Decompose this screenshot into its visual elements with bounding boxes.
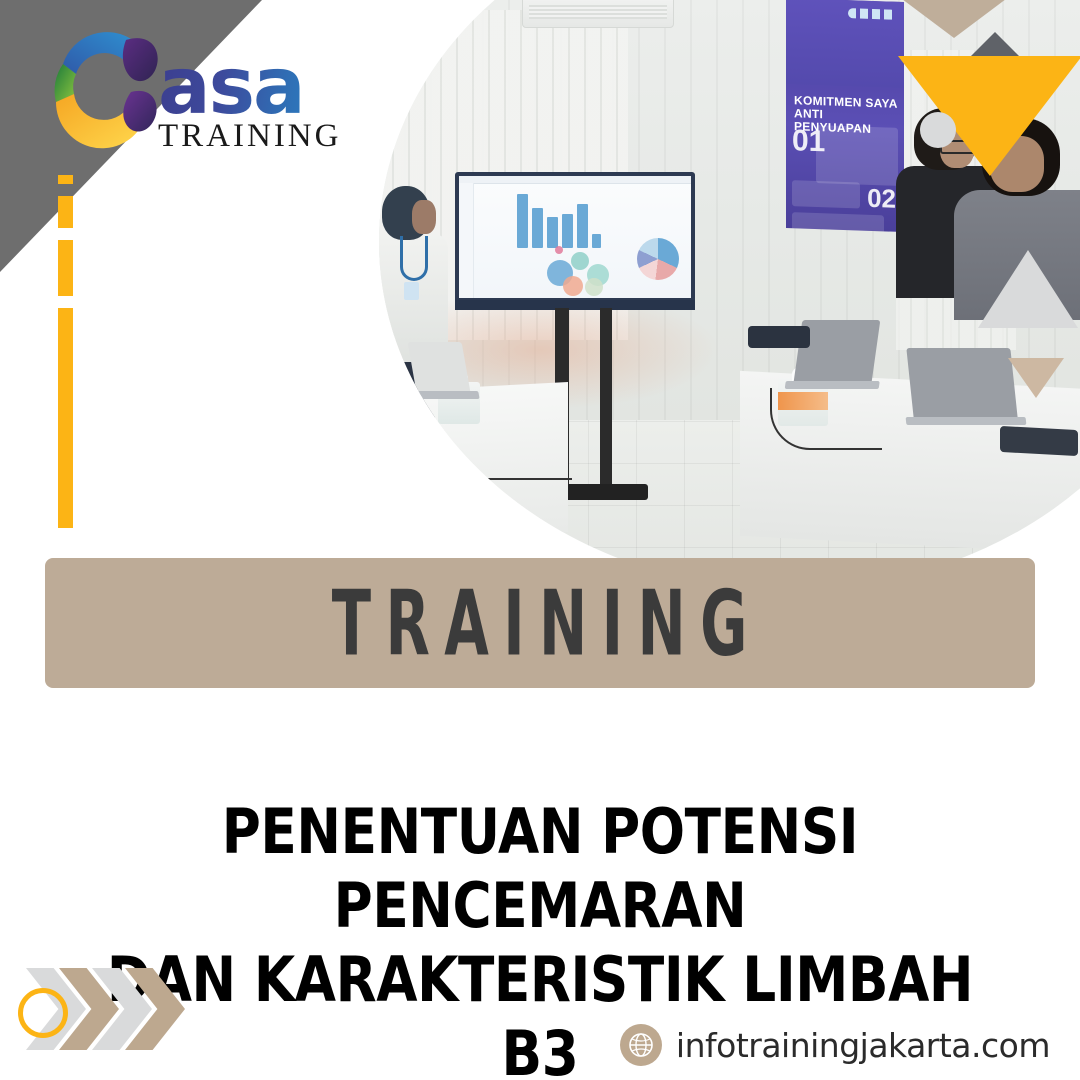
- laptop: [906, 348, 1017, 418]
- logo-subtitle: TRAINING: [158, 118, 341, 155]
- title-line-1: PENENTUAN POTENSI PENCEMARAN: [76, 795, 1005, 943]
- cable: [770, 388, 882, 450]
- yellow-dash-3: [58, 240, 73, 296]
- laptop: [408, 342, 471, 392]
- globe-icon: [620, 1024, 662, 1066]
- website-footer[interactable]: infotrainingjakarta.com: [620, 1024, 1050, 1066]
- website-url: infotrainingjakarta.com: [676, 1026, 1050, 1065]
- light-gray-triangle-up-icon: [978, 250, 1078, 328]
- bag: [748, 326, 810, 348]
- air-conditioner: [522, 0, 674, 28]
- screen-bar-chart: [517, 194, 599, 248]
- yellow-dash-1: [58, 175, 73, 184]
- poster-canvas: KOMITMEN SAYA ANTI PENYUAPAN 01 02: [0, 0, 1080, 1080]
- small-tan-triangle-down-icon: [1008, 358, 1064, 398]
- cable: [450, 442, 572, 480]
- screen-pie-chart: [637, 238, 679, 280]
- logo-wordmark: asa: [158, 50, 341, 124]
- presentation-display: [455, 172, 695, 310]
- yellow-dash-4: [58, 308, 73, 528]
- brand-logo: asa TRAINING: [30, 12, 360, 172]
- light-gray-circle-icon: [920, 112, 956, 148]
- training-banner-label: TRAINING: [318, 571, 762, 675]
- training-banner: TRAINING: [45, 558, 1035, 688]
- poster-step-2: 02: [867, 183, 896, 215]
- phone: [1000, 426, 1078, 456]
- yellow-ring-icon: [18, 988, 68, 1038]
- chevron-arrows: [18, 968, 198, 1050]
- yellow-dash-2: [58, 196, 73, 228]
